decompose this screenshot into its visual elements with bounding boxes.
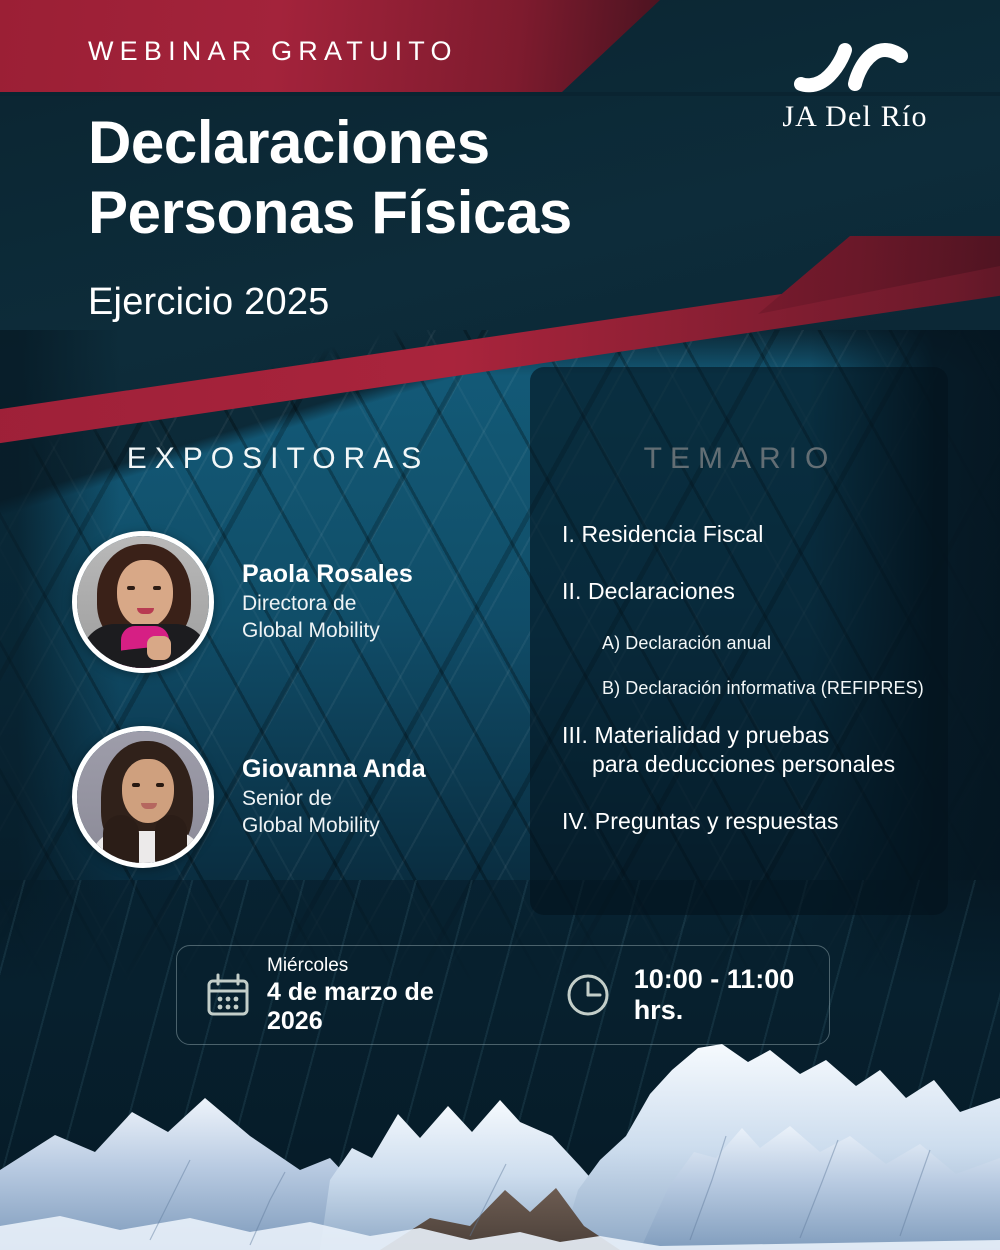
avatar [72, 726, 214, 868]
page-title-line1: Declaraciones [88, 108, 728, 178]
speaker-role-line2: Global Mobility [242, 618, 413, 644]
speaker-role-line1: Senior de [242, 786, 426, 812]
speaker-role-line1: Directora de [242, 591, 413, 617]
jadelrio-swoosh-icon [785, 38, 925, 94]
mountain-range-image [0, 1040, 1000, 1250]
schedule-bar: Miércoles 4 de marzo de 2026 10:00 - 11:… [176, 945, 830, 1045]
page-title-line2: Personas Físicas [88, 178, 728, 248]
agenda-item-4: IV. Preguntas y respuestas [562, 807, 962, 836]
schedule-time: 10:00 - 11:00 hrs. [634, 964, 829, 1026]
portrait-giovanna-anda [77, 731, 209, 863]
agenda-subitem-b: B) Declaración informativa (REFIPRES) [602, 677, 962, 700]
clock-icon [564, 971, 612, 1019]
portrait-paola-rosales [77, 536, 209, 668]
speaker-role: Senior de Global Mobility [242, 786, 426, 839]
speaker-info: Giovanna Anda Senior de Global Mobility [242, 755, 426, 839]
page-title: Declaraciones Personas Físicas [88, 108, 728, 248]
time-group: 10:00 - 11:00 hrs. [564, 964, 829, 1026]
schedule-date: 4 de marzo de 2026 [267, 978, 474, 1036]
speaker-role: Directora de Global Mobility [242, 591, 413, 644]
speaker-name: Paola Rosales [242, 560, 413, 589]
speaker-card-giovanna-anda: Giovanna Anda Senior de Global Mobility [72, 726, 426, 868]
date-text: Miércoles 4 de marzo de 2026 [267, 955, 474, 1036]
agenda-list: I. Residencia Fiscal II. Declaraciones A… [562, 520, 962, 864]
speaker-info: Paola Rosales Directora de Global Mobili… [242, 560, 413, 644]
agenda-item-2: II. Declaraciones [562, 577, 962, 606]
speaker-card-paola-rosales: Paola Rosales Directora de Global Mobili… [72, 531, 413, 673]
agenda-item-1: I. Residencia Fiscal [562, 520, 962, 549]
brand-logo-text: JA Del Río [760, 100, 950, 134]
agenda-subitem-a: A) Declaración anual [602, 632, 962, 655]
agenda-item-3: III. Materialidad y pruebas para deducci… [562, 721, 962, 779]
date-group: Miércoles 4 de marzo de 2026 [205, 955, 474, 1036]
page-subtitle: Ejercicio 2025 [88, 281, 330, 324]
agenda-item-3-line1: III. Materialidad y pruebas [562, 722, 829, 748]
schedule-day: Miércoles [267, 955, 474, 977]
speakers-heading: EXPOSITORAS [0, 442, 556, 476]
kicker-label: WEBINAR GRATUITO [88, 36, 458, 67]
agenda-item-3-line2: para deducciones personales [592, 750, 962, 779]
calendar-icon [205, 972, 251, 1018]
poster-canvas: WEBINAR GRATUITO Declaraciones Personas … [0, 0, 1000, 1250]
avatar [72, 531, 214, 673]
speaker-name: Giovanna Anda [242, 755, 426, 784]
brand-logo: JA Del Río [760, 38, 950, 134]
speaker-role-line2: Global Mobility [242, 813, 426, 839]
